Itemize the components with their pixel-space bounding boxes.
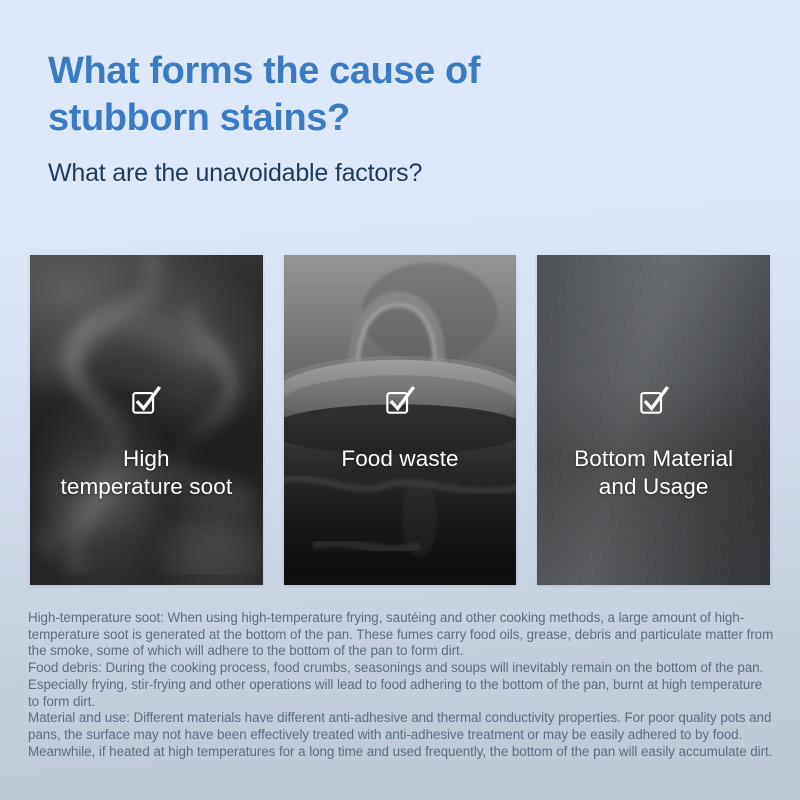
cause-card-high-temperature-soot[interactable]: High temperature soot: [30, 255, 263, 585]
card-label: Food waste: [341, 445, 458, 473]
page-subtitle: What are the unavoidable factors?: [48, 158, 748, 188]
cause-card-bottom-material-and-usage[interactable]: Bottom Material and Usage: [537, 255, 770, 585]
checkbox-checked-icon: [385, 386, 415, 416]
cause-card-food-waste[interactable]: Food waste: [284, 255, 517, 585]
explanation-text: High-temperature soot: When using high-t…: [28, 610, 776, 760]
cause-card-list: High temperature soot: [30, 255, 770, 585]
page-title: What forms the cause of stubborn stains?: [48, 48, 568, 142]
paragraph-material-and-use: Material and use: Different materials ha…: [28, 710, 776, 760]
paragraph-food-debris: Food debris: During the cooking process,…: [28, 660, 776, 710]
header: What forms the cause of stubborn stains?…: [48, 48, 748, 188]
card-content: Bottom Material and Usage: [537, 386, 770, 502]
infographic-page: What forms the cause of stubborn stains?…: [0, 0, 800, 800]
card-content: High temperature soot: [30, 386, 263, 502]
card-label: High temperature soot: [60, 445, 232, 502]
paragraph-soot: High-temperature soot: When using high-t…: [28, 610, 776, 660]
card-content: Food waste: [284, 386, 517, 473]
card-label: Bottom Material and Usage: [574, 445, 733, 502]
checkbox-checked-icon: [639, 386, 669, 416]
checkbox-checked-icon: [131, 386, 161, 416]
